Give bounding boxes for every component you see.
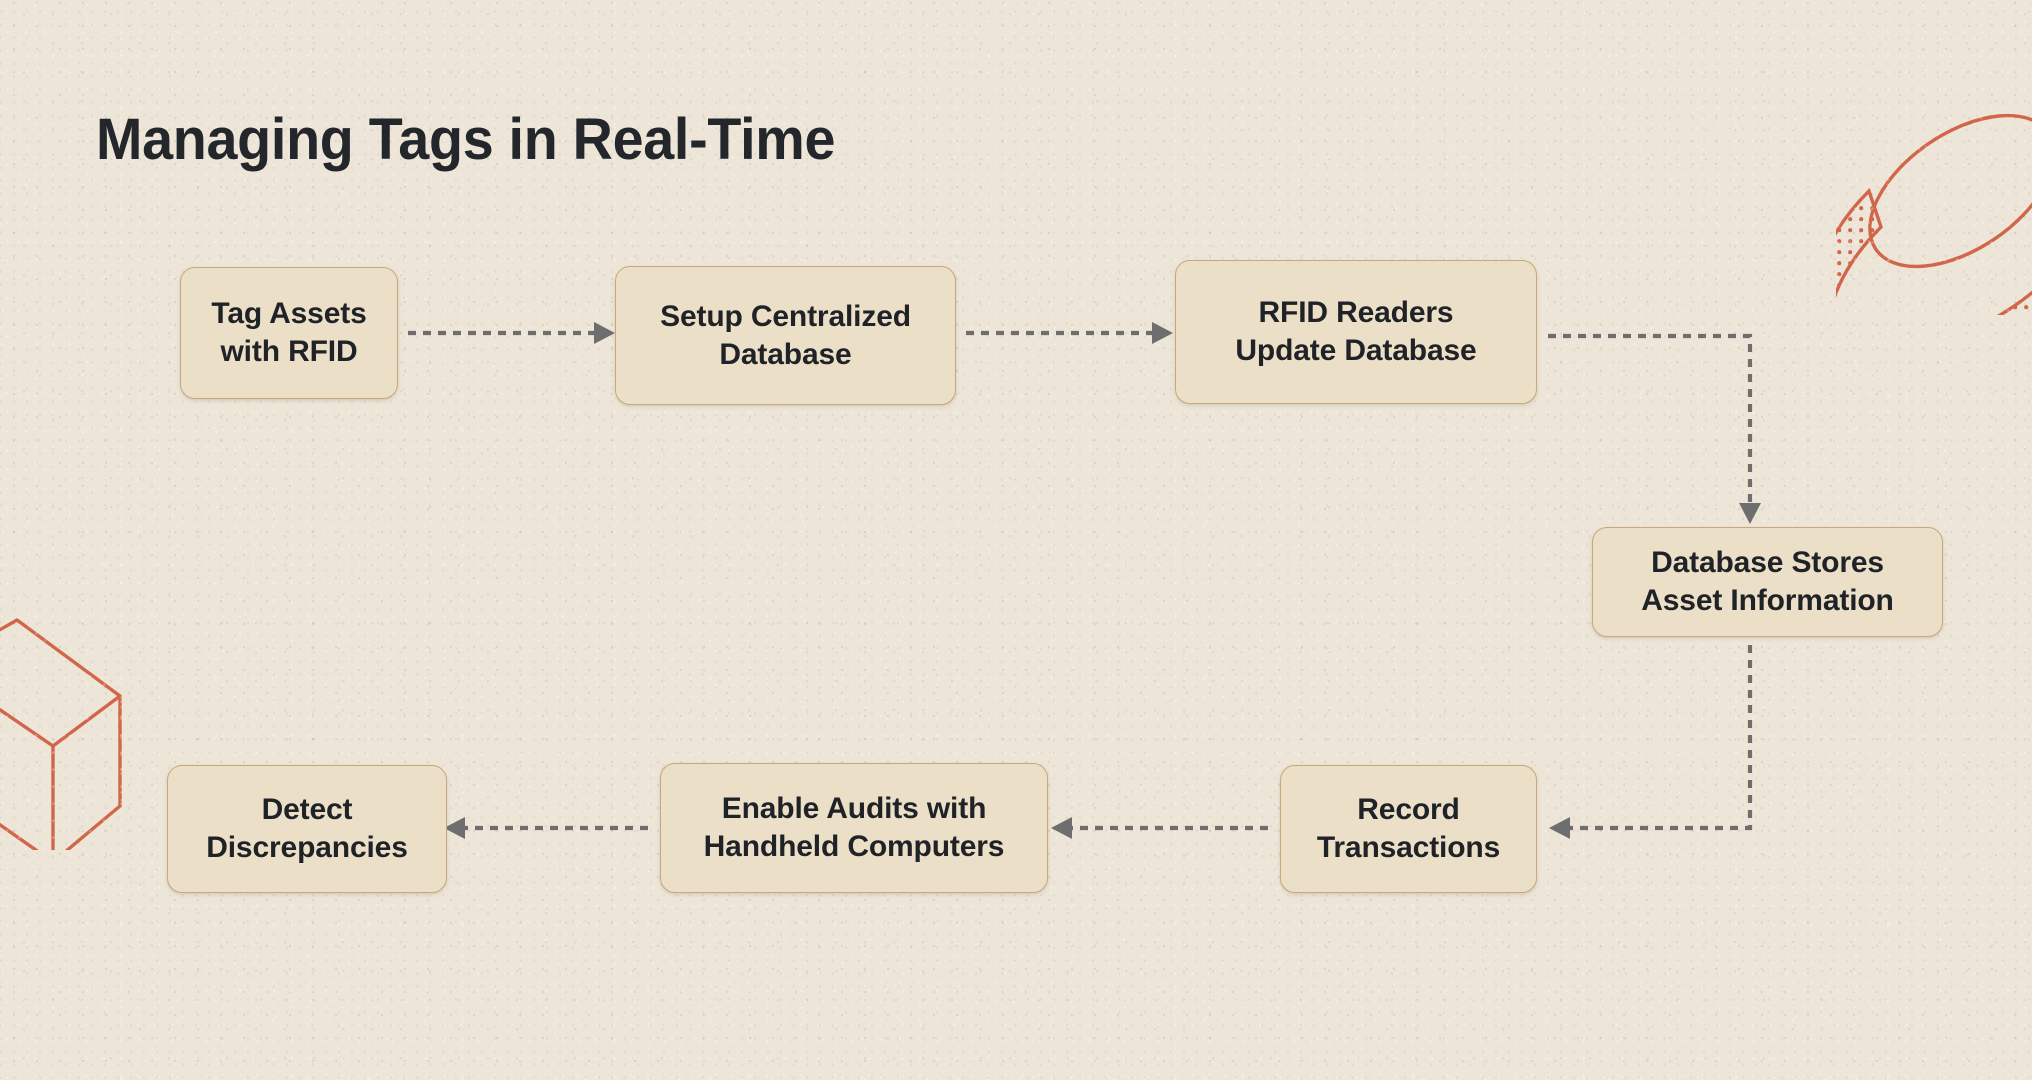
- node-label: Setup Centralized Database: [660, 298, 911, 374]
- node-label: RFID Readers Update Database: [1235, 294, 1476, 370]
- page-title: Managing Tags in Real-Time: [96, 106, 835, 173]
- node-label: Enable Audits with Handheld Computers: [704, 790, 1005, 866]
- node-tag-assets-with-rfid[interactable]: Tag Assets with RFID: [180, 267, 398, 399]
- node-label: Database Stores Asset Information: [1641, 544, 1893, 620]
- node-label: Tag Assets with RFID: [211, 295, 366, 371]
- node-enable-audits-with-handheld-computers[interactable]: Enable Audits with Handheld Computers: [660, 763, 1048, 893]
- node-database-stores-asset-information[interactable]: Database Stores Asset Information: [1592, 527, 1943, 637]
- node-rfid-readers-update-database[interactable]: RFID Readers Update Database: [1175, 260, 1537, 404]
- node-detect-discrepancies[interactable]: Detect Discrepancies: [167, 765, 447, 893]
- node-label: Detect Discrepancies: [206, 791, 408, 867]
- node-label: Record Transactions: [1317, 791, 1500, 867]
- node-record-transactions[interactable]: Record Transactions: [1280, 765, 1537, 893]
- node-setup-centralized-database[interactable]: Setup Centralized Database: [615, 266, 956, 405]
